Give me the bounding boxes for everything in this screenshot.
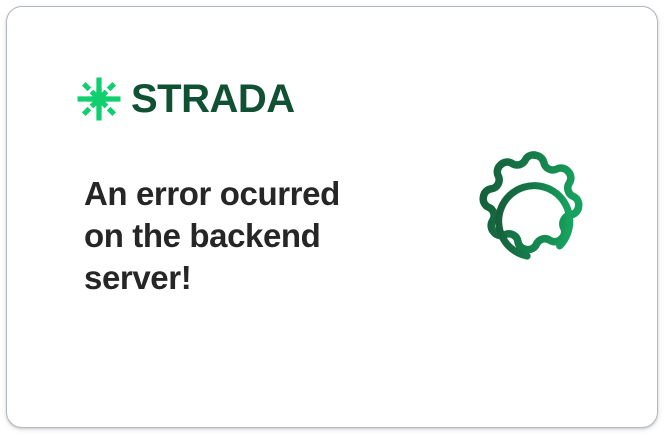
strada-asterisk-icon — [77, 77, 121, 121]
brand-wordmark: STRADA — [131, 79, 295, 119]
screenshot-root: STRADA An error ocurred on the backend s… — [0, 0, 666, 436]
gear-outline-icon — [456, 147, 614, 305]
error-card: STRADA An error ocurred on the backend s… — [6, 6, 658, 428]
error-headline: An error ocurred on the backend server! — [84, 173, 384, 299]
brand-lockup: STRADA — [77, 73, 295, 125]
